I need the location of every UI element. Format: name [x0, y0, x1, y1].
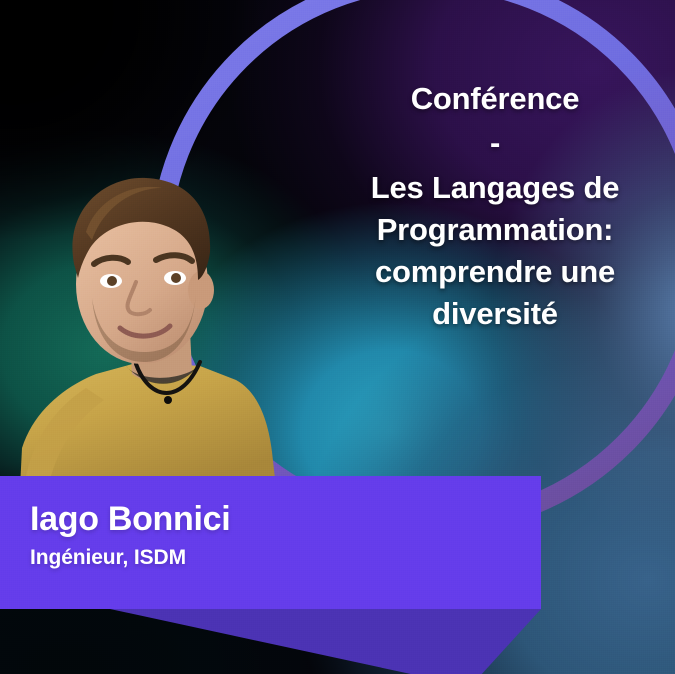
title-line-6: diversité	[330, 293, 660, 335]
speaker-photo	[0, 148, 290, 488]
title-line-1: Conférence	[330, 78, 660, 120]
poster-title: Conférence - Les Langages de Programmati…	[330, 78, 660, 335]
title-line-2: -	[330, 120, 660, 167]
title-line-4: Programmation:	[330, 209, 660, 251]
necklace-pendant-icon	[164, 396, 172, 404]
speaker-name: Iago Bonnici	[30, 500, 230, 539]
pupil-left	[107, 276, 117, 286]
title-line-5: comprendre une	[330, 251, 660, 293]
conference-poster: Conférence - Les Langages de Programmati…	[0, 0, 675, 674]
banner-tail	[0, 606, 675, 674]
banner-tail-shape	[110, 609, 541, 674]
title-line-3: Les Langages de	[330, 167, 660, 209]
pupil-right	[171, 273, 181, 283]
speaker-role: Ingénieur, ISDM	[30, 546, 186, 570]
speaker-name-banner: Iago Bonnici Ingénieur, ISDM	[0, 476, 541, 609]
